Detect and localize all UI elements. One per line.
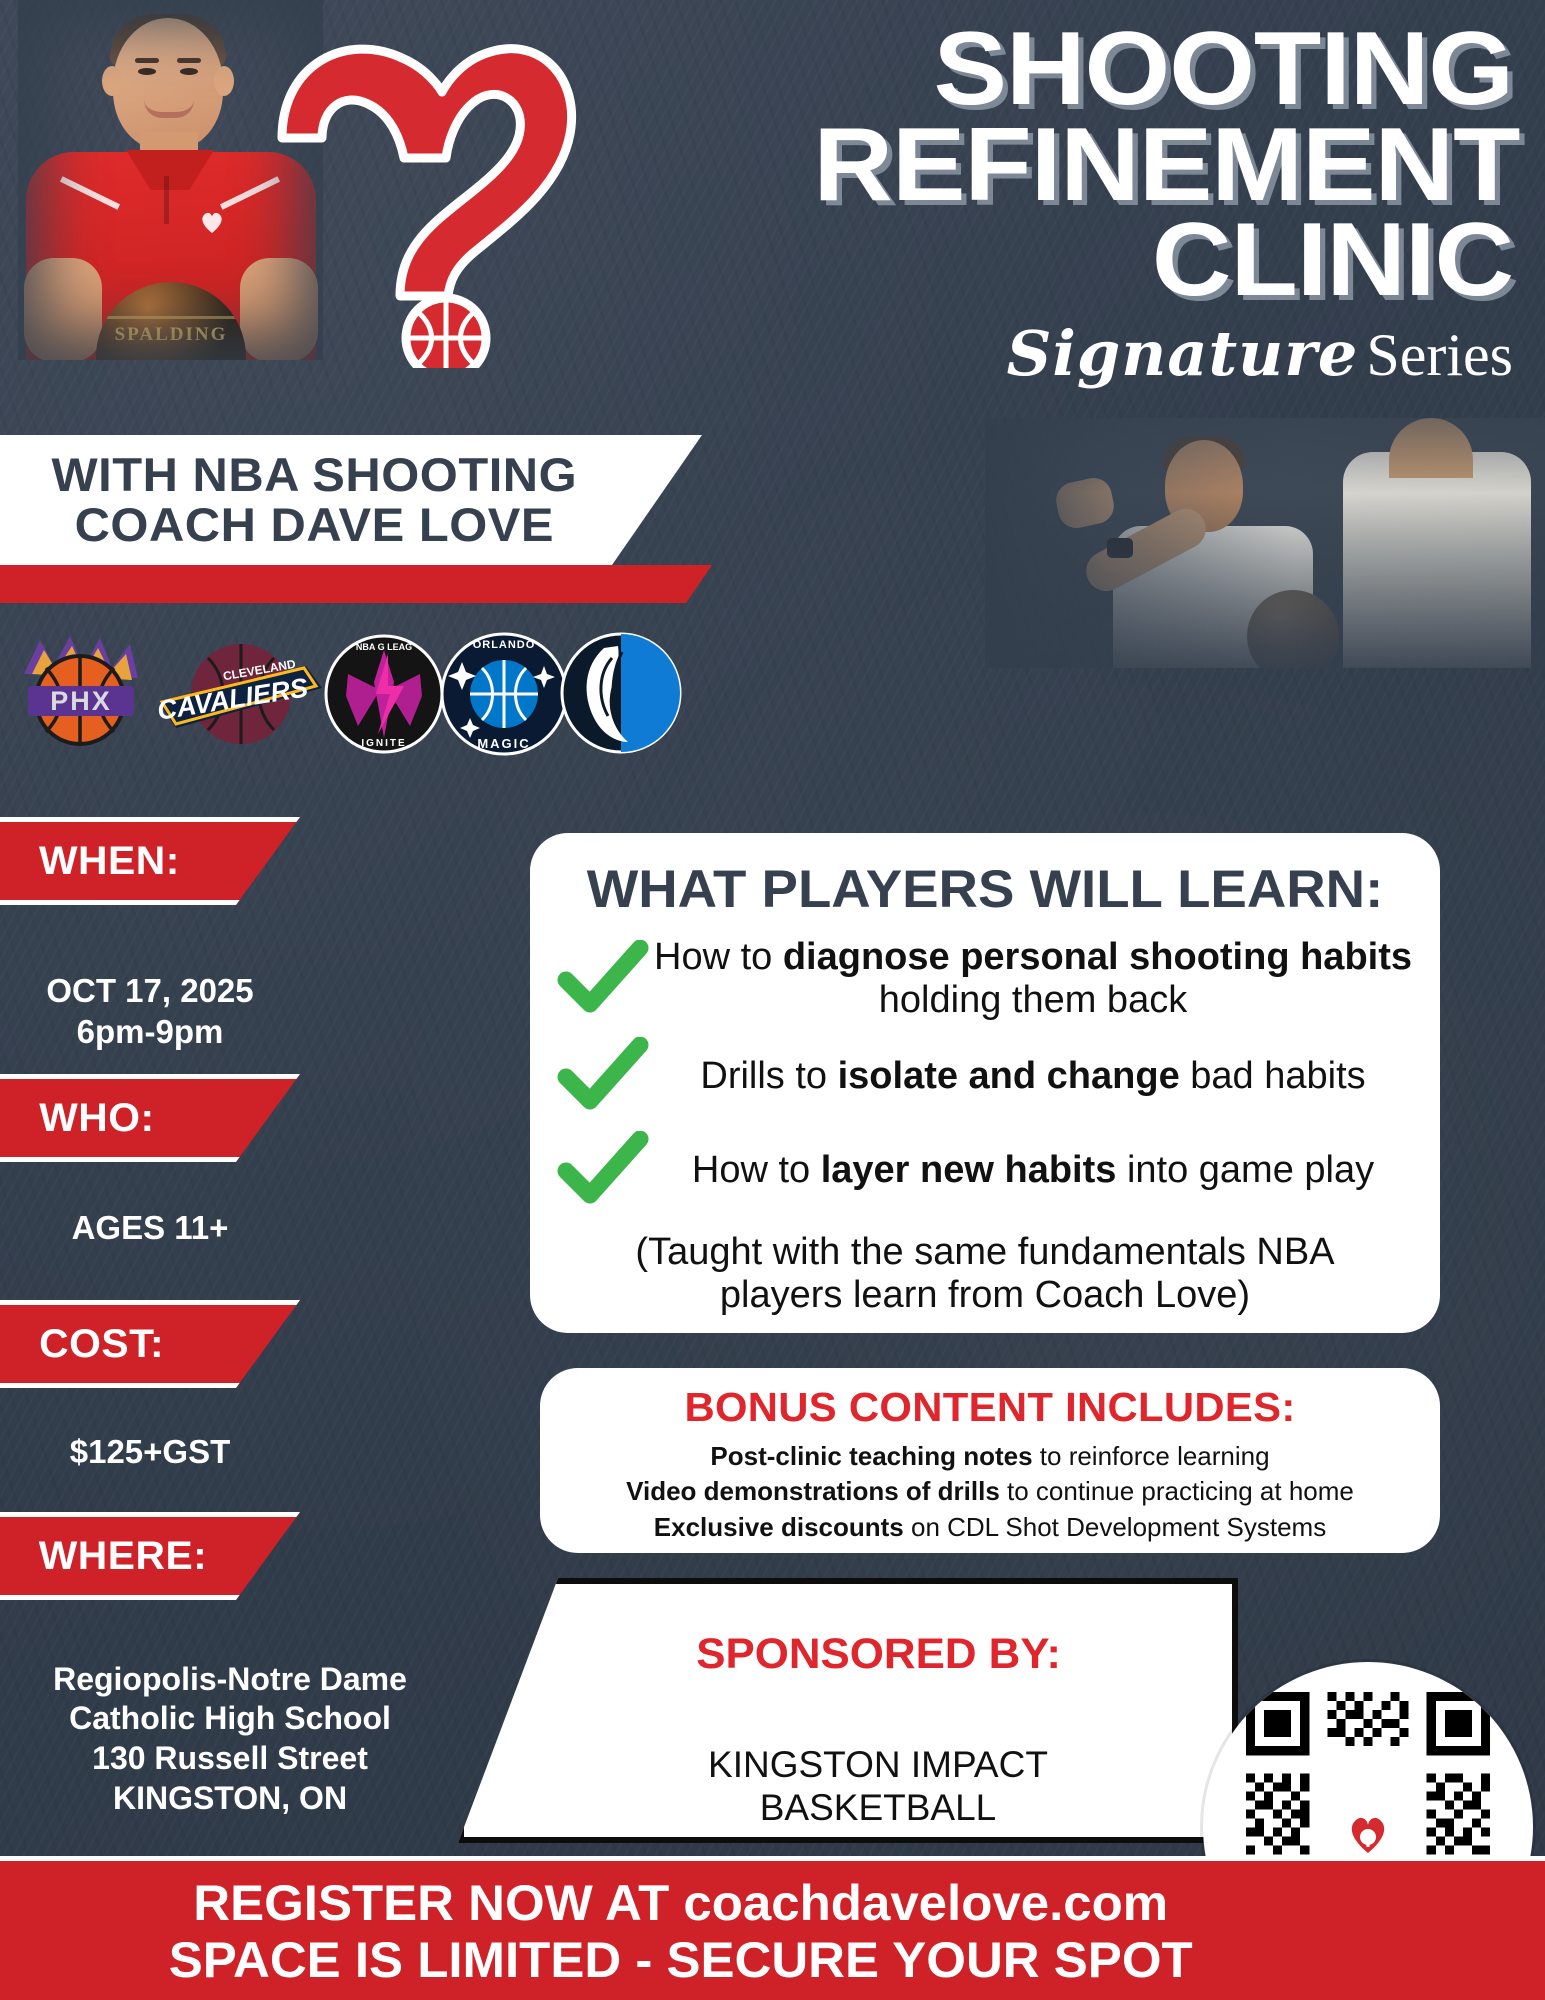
learn-item-text: How to diagnose personal shooting habits…	[652, 936, 1414, 1021]
cost-label: COST:	[0, 1322, 164, 1367]
who-label-tab: WHO:	[0, 1074, 300, 1162]
bonus-line-rest: to reinforce learning	[1033, 1441, 1270, 1471]
series-text: Series	[1366, 322, 1513, 388]
green-check-icon	[556, 1037, 652, 1115]
green-check-icon	[556, 1131, 652, 1209]
bonus-card-title: BONUS CONTENT INCLUDES:	[531, 1384, 1449, 1431]
learn-item-post: bad habits	[1180, 1055, 1366, 1097]
title-line-2: REFINEMENT	[813, 118, 1513, 214]
svg-text:IGNITE: IGNITE	[361, 738, 406, 749]
learn-item-text: How to layer new habits into game play	[652, 1149, 1414, 1192]
when-value: OCT 17, 2025 6pm-9pm	[0, 930, 300, 1053]
nba-g-league-ignite-logo: NBA G LEAG IGNITE	[324, 634, 444, 754]
svg-text:MAGIC: MAGIC	[477, 736, 530, 751]
flyer-poster: SPALDING SHOOTING	[0, 0, 1545, 2000]
signature-script-text: Signature	[1007, 317, 1359, 390]
learn-item-pre: How to	[654, 936, 783, 978]
who-value: AGES 11+	[0, 1208, 300, 1249]
register-footer-bar: REGISTER NOW AT coachdavelove.com SPACE …	[0, 1856, 1545, 2000]
svg-text:NBA G LEAG: NBA G LEAG	[356, 642, 412, 652]
subtitle-line-2: COACH DAVE LOVE	[52, 500, 578, 550]
learn-item-bold: layer new habits	[821, 1149, 1117, 1191]
sponsor-title: SPONSORED BY:	[456, 1630, 1239, 1679]
bonus-line-bold: Video demonstrations of drills	[626, 1476, 1000, 1506]
svg-text:ORLANDO: ORLANDO	[473, 639, 536, 651]
learn-item-post: holding them back	[879, 979, 1187, 1021]
orlando-magic-logo: ORLANDO MAGIC	[440, 632, 568, 756]
poster-title: SHOOTING REFINEMENT CLINIC SignatureSeri…	[853, 22, 1513, 390]
learn-item-row: How to layer new habits into game play	[530, 1131, 1440, 1209]
learn-item-row: Drills to isolate and change bad habits	[530, 1037, 1440, 1115]
subtitle-line-1: WITH NBA SHOOTING	[52, 450, 578, 500]
learn-card-title: WHAT PLAYERS WILL LEARN:	[516, 859, 1453, 920]
learn-card-note: (Taught with the same fundamentals NBA p…	[576, 1231, 1394, 1318]
footer-line-1: REGISTER NOW AT coachdavelove.com	[0, 1861, 1545, 1932]
subtitle-banner: WITH NBA SHOOTING COACH DAVE LOVE	[0, 435, 702, 565]
bonus-line-rest: on CDL Shot Development Systems	[904, 1512, 1326, 1542]
bonus-line-bold: Exclusive discounts	[654, 1512, 904, 1542]
cleveland-cavaliers-logo: CAVALIERS CLEVELAND	[156, 638, 326, 750]
coach-teaching-action-photo	[985, 418, 1545, 668]
heart-question-mark-logo-icon	[250, 18, 580, 368]
where-value: Regiopolis-Notre Dame Catholic High Scho…	[0, 1620, 460, 1818]
where-label-tab: WHERE:	[0, 1512, 300, 1600]
learn-item-bold: isolate and change	[838, 1055, 1180, 1097]
bonus-content-card: BONUS CONTENT INCLUDES: Post-clinic teac…	[540, 1368, 1440, 1553]
footer-line-2: SPACE IS LIMITED - SECURE YOUR SPOT	[0, 1932, 1545, 1989]
where-label: WHERE:	[0, 1534, 207, 1579]
red-accent-slash	[0, 565, 712, 603]
qr-center-heart-icon	[1339, 1805, 1397, 1863]
cost-label-tab: COST:	[0, 1300, 300, 1388]
title-line-1: SHOOTING	[813, 22, 1513, 118]
learn-item-pre: How to	[692, 1149, 821, 1191]
when-label: WHEN:	[0, 839, 180, 884]
learn-item-bold: diagnose personal shooting habits	[783, 936, 1412, 978]
learn-item-pre: Drills to	[700, 1055, 837, 1097]
who-label: WHO:	[0, 1096, 155, 1141]
title-line-3: CLINIC	[813, 213, 1513, 309]
footer-line-1-pre: REGISTER NOW AT	[193, 1875, 683, 1931]
learn-item-text: Drills to isolate and change bad habits	[652, 1055, 1414, 1098]
sponsor-banner: SPONSORED BY: KINGSTON IMPACT BASKETBALL	[458, 1578, 1238, 1843]
what-players-learn-card: WHAT PLAYERS WILL LEARN: How to diagnose…	[530, 833, 1440, 1333]
signature-series-label: SignatureSeries	[853, 317, 1513, 390]
bonus-line-bold: Post-clinic teaching notes	[710, 1441, 1032, 1471]
bonus-line: Video demonstrations of drills to contin…	[540, 1474, 1440, 1509]
sponsor-name: KINGSTON IMPACT BASKETBALL	[464, 1701, 1232, 1830]
green-check-icon	[556, 940, 652, 1018]
team-logos-row: PHX CAVALIERS CLEVELAND	[8, 628, 668, 758]
dallas-mavericks-logo	[560, 632, 682, 754]
cost-value: $125+GST	[0, 1432, 300, 1473]
phoenix-suns-logo: PHX	[14, 634, 152, 754]
bonus-line: Exclusive discounts on CDL Shot Developm…	[540, 1510, 1440, 1545]
bonus-line: Post-clinic teaching notes to reinforce …	[540, 1439, 1440, 1474]
svg-text:PHX: PHX	[50, 686, 112, 716]
learn-item-post: into game play	[1116, 1149, 1374, 1191]
bonus-line-rest: to continue practicing at home	[1000, 1476, 1354, 1506]
learn-item-row: How to diagnose personal shooting habits…	[530, 936, 1440, 1021]
footer-website-url[interactable]: coachdavelove.com	[683, 1875, 1168, 1931]
when-label-tab: WHEN:	[0, 817, 300, 905]
